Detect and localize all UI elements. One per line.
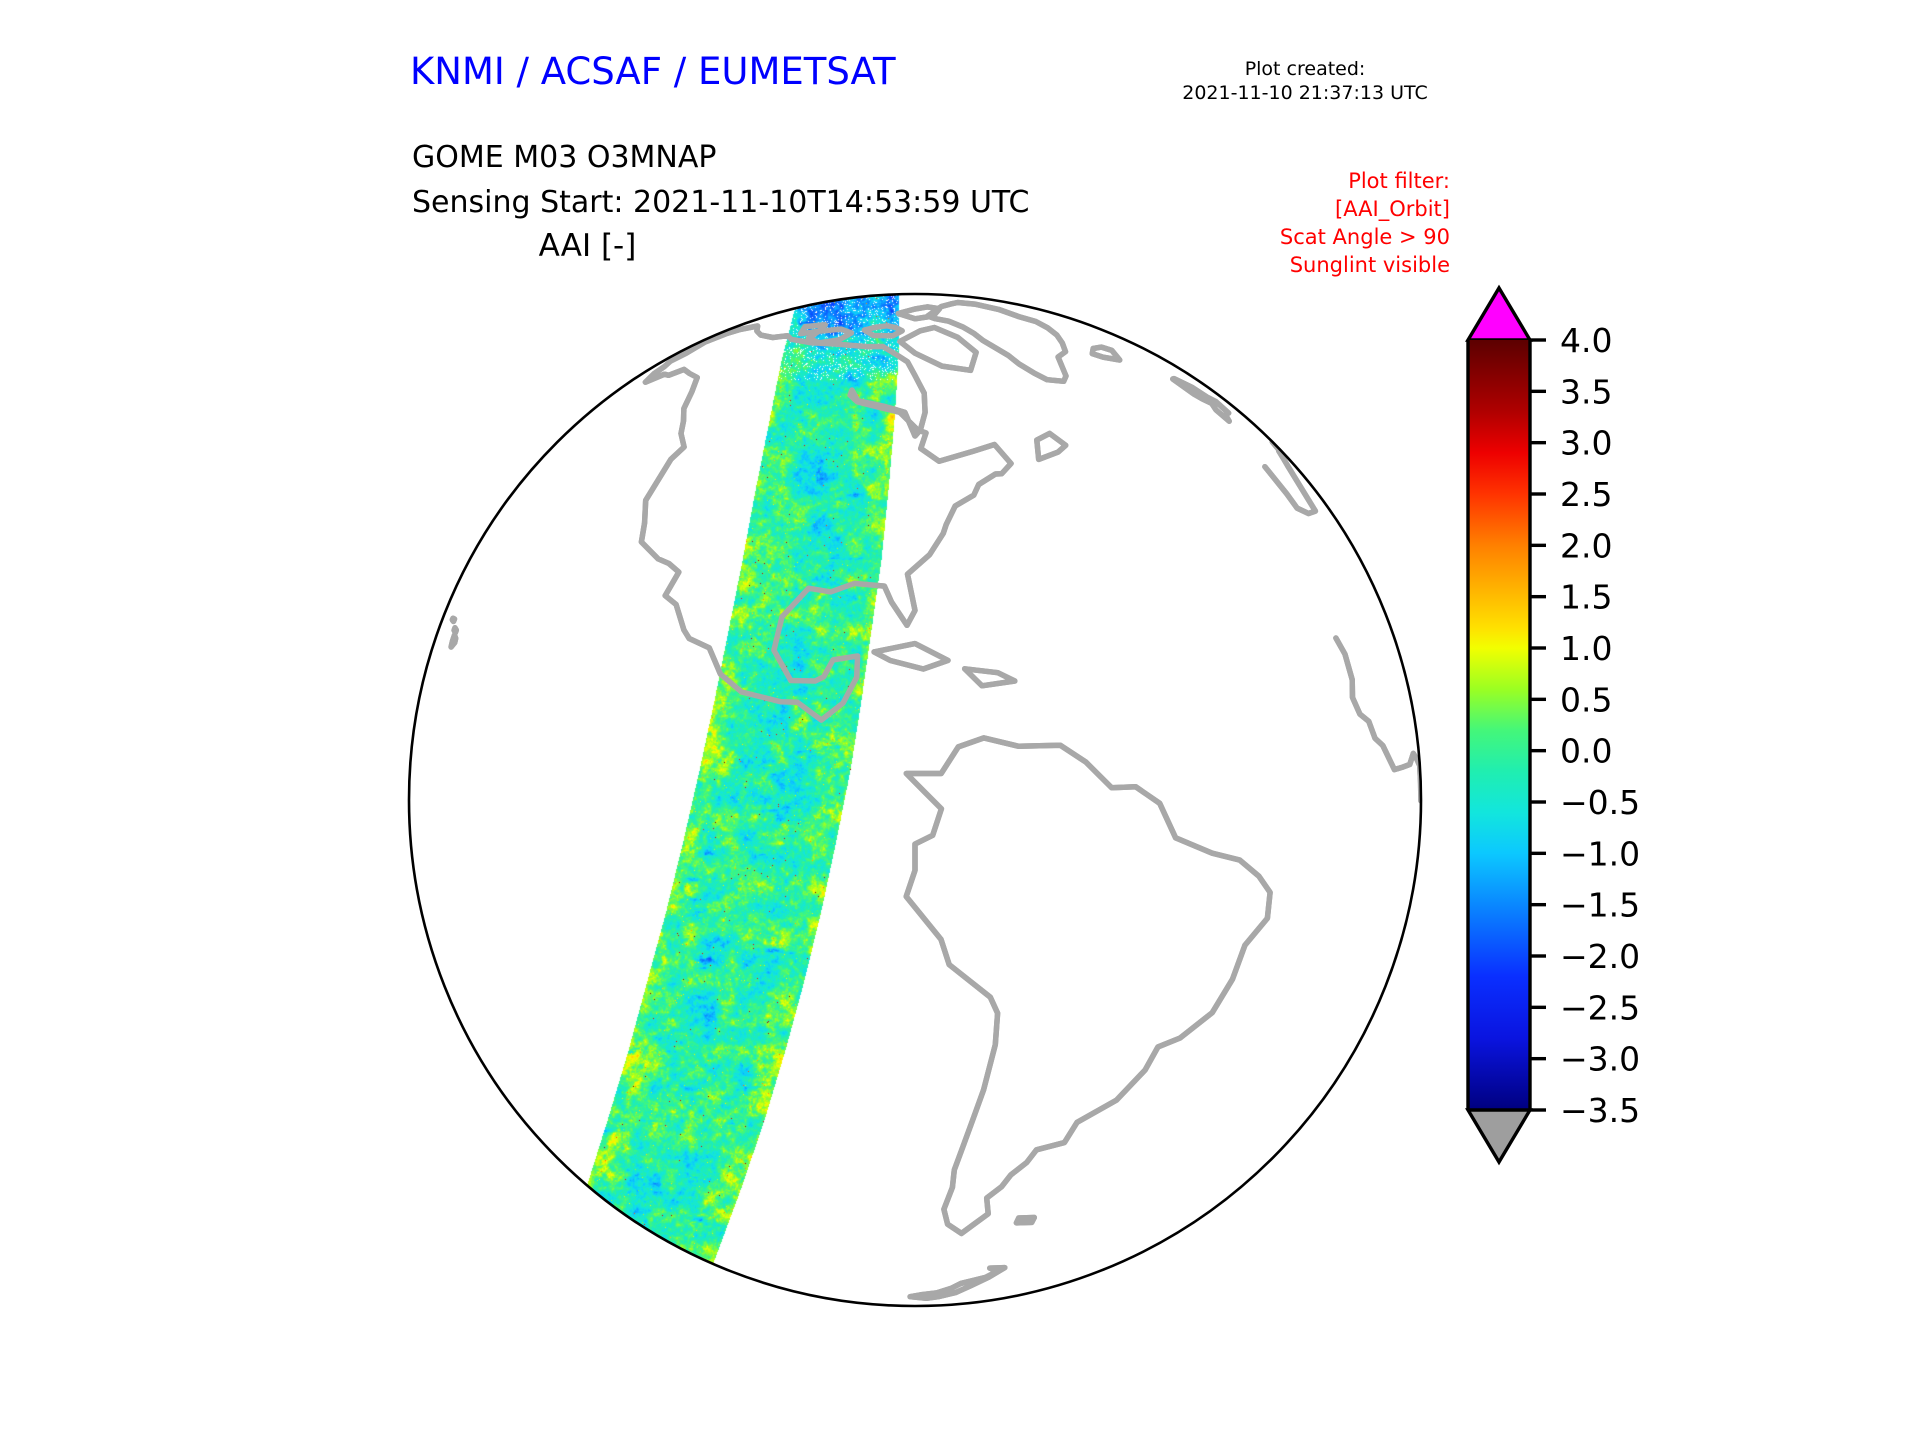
quantity-title: AAI [-]	[0, 228, 1175, 264]
product-title: GOME M03 O3MNAP	[412, 140, 716, 175]
plot-filter-title: Plot filter:	[1150, 168, 1450, 196]
coastline-overlay-maui	[454, 628, 456, 633]
organisation-title: KNMI / ACSAF / EUMETSAT	[410, 50, 896, 93]
colorbar-gradient	[1468, 340, 1530, 1110]
colorbar-tick-label: −1.5	[1560, 886, 1640, 925]
colorbar-tick-label: 2.5	[1560, 475, 1612, 514]
colorbar-tick-label: −2.0	[1560, 937, 1640, 976]
colorbar-tick-label: 3.5	[1560, 372, 1612, 411]
plot-filter-line-2: Scat Angle > 90	[1150, 224, 1450, 252]
colorbar-tick-label: −0.5	[1560, 783, 1640, 822]
colorbar-tick-label: −1.0	[1560, 834, 1640, 873]
colorbar: 4.03.53.02.52.01.51.00.50.0−0.5−1.0−1.5−…	[1440, 280, 1860, 1280]
colorbar-tick-label: −3.0	[1560, 1040, 1640, 1079]
colorbar-tick-label: 3.0	[1560, 424, 1612, 463]
colorbar-tick-label: 4.0	[1560, 321, 1612, 360]
plot-filter-line-1: [AAI_Orbit]	[1150, 196, 1450, 224]
globe-map-svg	[400, 270, 1430, 1330]
sensing-start-text: Sensing Start: 2021-11-10T14:53:59 UTC	[412, 185, 1029, 220]
colorbar-tick-label: 0.5	[1560, 680, 1612, 719]
colorbar-tick-label: 1.0	[1560, 629, 1612, 668]
globe-map	[400, 270, 1430, 1330]
colorbar-tick-label: −2.5	[1560, 988, 1640, 1027]
plot-created-value: 2021-11-10 21:37:13 UTC	[1160, 82, 1450, 106]
colorbar-tick-label: −3.5	[1560, 1091, 1640, 1130]
colorbar-under-arrow	[1468, 1110, 1530, 1162]
colorbar-tick-label: 0.0	[1560, 732, 1612, 771]
coastline-overlay-hawaii-big	[451, 635, 456, 647]
colorbar-tick-label: 1.5	[1560, 578, 1612, 617]
colorbar-over-arrow	[1468, 288, 1530, 340]
plot-created-block: Plot created: 2021-11-10 21:37:13 UTC	[1160, 58, 1450, 106]
plot-canvas: KNMI / ACSAF / EUMETSAT Plot created: 20…	[0, 0, 1920, 1440]
colorbar-ticks: 4.03.53.02.52.01.51.00.50.0−0.5−1.0−1.5−…	[1530, 321, 1640, 1130]
plot-filter-block: Plot filter: [AAI_Orbit] Scat Angle > 90…	[1150, 168, 1450, 280]
colorbar-svg: 4.03.53.02.52.01.51.00.50.0−0.5−1.0−1.5−…	[1440, 280, 1860, 1280]
coastline-overlay-falklands	[1016, 1218, 1034, 1223]
colorbar-body	[1468, 288, 1530, 1162]
plot-created-label: Plot created:	[1160, 58, 1450, 82]
coastline-overlay-hawaii	[452, 618, 454, 621]
colorbar-tick-label: 2.0	[1560, 526, 1612, 565]
